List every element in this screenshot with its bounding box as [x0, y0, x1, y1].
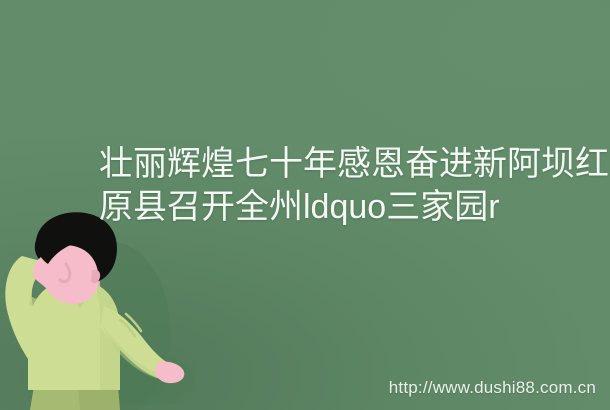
- headline-line-1: 壮丽辉煌七十年感恩奋进新阿坝红: [99, 143, 599, 186]
- image-canvas: 壮丽辉煌七十年感恩奋进新阿坝红 原县召开全州ldquo三家园r http://w…: [0, 0, 610, 410]
- headline-text: 壮丽辉煌七十年感恩奋进新阿坝红 原县召开全州ldquo三家园r: [99, 143, 599, 229]
- headline-line-2: 原县召开全州ldquo三家园r: [99, 186, 599, 229]
- watermark-url: http://www.dushi88.com.cn: [389, 378, 596, 398]
- person-illustration: [0, 210, 200, 410]
